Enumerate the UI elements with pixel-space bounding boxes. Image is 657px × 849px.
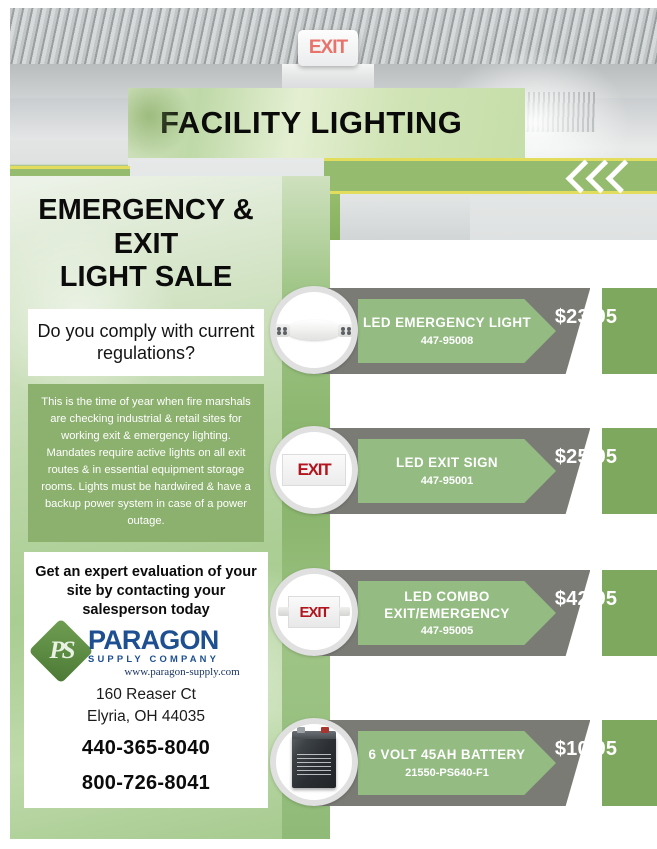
lamp-head-left [274,324,290,337]
product-sku: 21550-PS640-F1 [405,767,509,779]
emergency-light-body [286,320,342,340]
bar-green-end [602,428,657,514]
exit-sign-plate: EXIT [282,454,346,486]
combo-unit: EXIT [278,595,350,629]
headline-line-2: EXIT [20,228,272,262]
cta-text: Get an expert evaluation of your site by… [32,563,260,620]
info-panel: EMERGENCY & EXIT LIGHT SALE Do you compl… [10,176,282,839]
product-sku: 447-95008 [421,335,494,347]
combo-lamp-right [339,607,350,616]
bar-green-end [602,720,657,806]
headline-line-1: EMERGENCY & [20,194,272,228]
battery-terminal-positive [321,727,329,733]
hero-exit-sign-icon: EXIT [298,30,358,66]
logo-tagline: SUPPLY COMPANY [88,653,273,664]
battery-icon[interactable] [270,718,358,806]
product-arrow: LED COMBO EXIT/EMERGENCY 447-95005 [358,581,556,645]
product-arrow: LED EMERGENCY LIGHT 447-95008 [358,299,556,363]
phone-primary[interactable]: 440-365-8040 [32,735,260,761]
combo-exit-text: EXIT [300,604,329,621]
product-arrow: 6 VOLT 45AH BATTERY 21550-PS640-F1 [358,731,556,795]
regulations-body-text: This is the time of year when fire marsh… [38,394,254,530]
battery-body [292,736,336,788]
address-line-2: Elyria, OH 44035 [32,707,260,727]
logo-wordmark: PARAGON SUPPLY COMPANY [88,628,273,665]
bar-green-end [602,570,657,656]
combo-exit-emergency-icon[interactable]: EXIT [270,568,358,656]
bar-green-end [602,288,657,374]
exit-sign-text: EXIT [298,460,331,480]
compliance-question-box: Do you comply with current regulations? [28,309,264,376]
product-row[interactable]: LED COMBO EXIT/EMERGENCY 447-95005 $42.9… [310,570,657,656]
product-sku: 447-95005 [421,625,494,637]
product-sku: 447-95001 [421,475,494,487]
page-title: FACILITY LIGHTING [160,105,462,141]
title-banner: FACILITY LIGHTING [128,88,525,158]
corridor-blur [340,188,470,240]
logo-website-url[interactable]: www.paragon-supply.com [92,666,272,678]
phone-tollfree[interactable]: 800-726-8041 [32,770,260,796]
product-price: $25.95 [538,446,634,469]
product-name: LED COMBO EXIT/EMERGENCY [358,589,556,622]
emergency-light-icon[interactable] [270,286,358,374]
logo-company-name: PARAGON [88,628,273,654]
lamp-head-right [338,324,354,337]
product-price: $10.95 [538,738,634,761]
address-line-1: 160 Reaser Ct [32,685,260,705]
combo-exit-plate: EXIT [288,596,340,628]
battery-label [297,754,331,776]
exit-sign-icon[interactable]: EXIT [270,426,358,514]
regulations-body-box: This is the time of year when fire marsh… [28,384,264,542]
logo-monogram: PS [38,628,84,674]
battery-terminal-negative [297,727,305,733]
compliance-question: Do you comply with current regulations? [34,320,258,365]
product-price: $23.95 [538,306,634,329]
combo-lamp-left [278,607,289,616]
product-row[interactable]: LED EXIT SIGN 447-95001 $25.95 [310,428,657,514]
headline-line-3: LIGHT SALE [20,261,272,295]
product-row[interactable]: LED EMERGENCY LIGHT 447-95008 $23.95 [310,288,657,374]
contact-box: Get an expert evaluation of your site by… [24,552,268,808]
flyer-page: EXIT FACILITY LIGHTING EMERGENCY & EXIT … [0,0,657,849]
sale-headline: EMERGENCY & EXIT LIGHT SALE [20,194,272,295]
product-arrow: LED EXIT SIGN 447-95001 [358,439,556,503]
paragon-logo: PS PARAGON SUPPLY COMPANY www.paragon-su… [32,626,260,682]
product-price: $42.95 [538,588,634,611]
product-name: LED EXIT SIGN [392,455,522,471]
product-row[interactable]: 6 VOLT 45AH BATTERY 21550-PS640-F1 $10.9… [310,720,657,806]
foliage-accent [128,88,198,158]
product-name: LED EMERGENCY LIGHT [359,315,555,331]
product-name: 6 VOLT 45AH BATTERY [365,747,550,763]
hero-exit-sign-label: EXIT [309,37,347,59]
